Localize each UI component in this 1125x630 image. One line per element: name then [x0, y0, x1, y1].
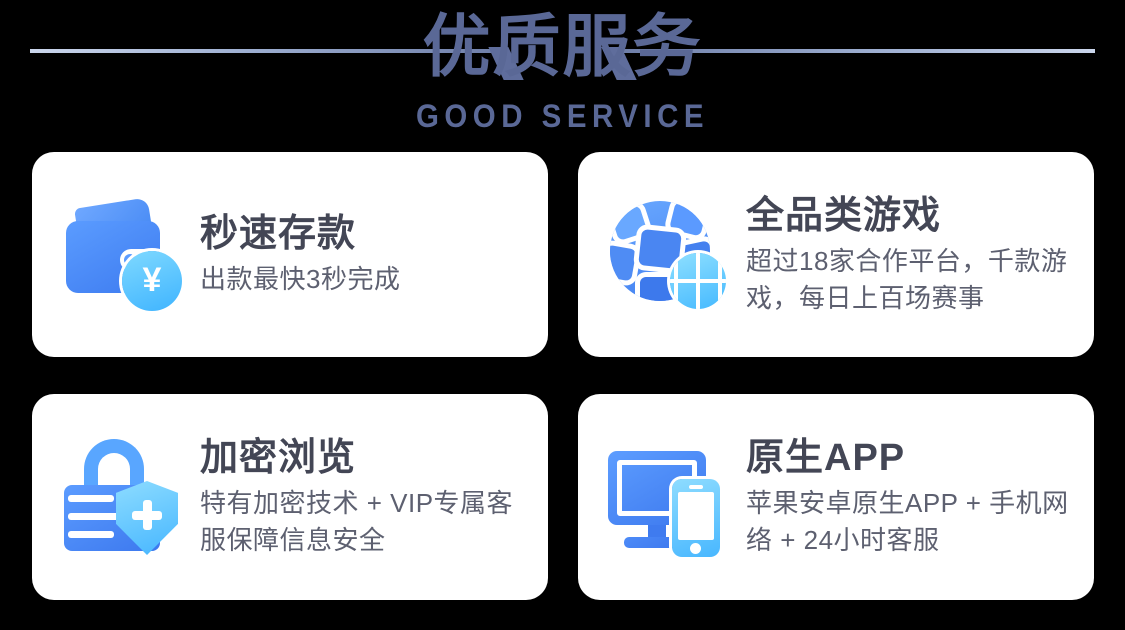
feature-card-deposit-text: 秒速存款 出款最快3秒完成: [200, 211, 534, 298]
soccer-basketball-icon: [604, 191, 732, 319]
soccer-panel-icon: [610, 244, 637, 281]
feature-card-games-title: 全品类游戏: [746, 193, 1080, 239]
feature-card-native-app[interactable]: 原生APP 苹果安卓原生APP + 手机网络 + 24小时客服: [578, 394, 1094, 600]
feature-card-games[interactable]: 全品类游戏 超过18家合作平台，千款游戏，每日上百场赛事: [578, 152, 1094, 357]
feature-card-deposit[interactable]: ¥ 秒速存款 出款最快3秒完成: [32, 152, 548, 357]
monitor-phone-icon: [604, 433, 732, 561]
feature-card-native-app-desc: 苹果安卓原生APP + 手机网络 + 24小时客服: [746, 485, 1080, 559]
basketball-icon: [670, 253, 726, 309]
yen-symbol: ¥: [143, 263, 162, 297]
page-title: 优质服务: [0, 8, 1125, 86]
feature-card-encryption-title: 加密浏览: [200, 435, 534, 481]
cross-icon: [132, 500, 162, 530]
phone-speaker-icon: [689, 485, 703, 489]
feature-card-encryption-desc: 特有加密技术 + VIP专属客服保障信息安全: [200, 485, 534, 559]
lock-slot-icon: [68, 513, 124, 520]
feature-card-native-app-text: 原生APP 苹果安卓原生APP + 手机网络 + 24小时客服: [746, 435, 1080, 559]
basketball-line-icon: [674, 253, 678, 309]
banner-header: 优质服务 GOOD SERVICE: [0, 0, 1125, 145]
feature-card-encryption[interactable]: 加密浏览 特有加密技术 + VIP专属客服保障信息安全: [32, 394, 548, 600]
feature-card-native-app-title: 原生APP: [746, 435, 1080, 481]
page-subtitle: GOOD SERVICE: [45, 98, 1080, 134]
phone-home-button-icon: [690, 543, 701, 554]
smartphone-icon: [672, 479, 720, 557]
basketball-line-icon: [718, 253, 722, 309]
feature-card-games-text: 全品类游戏 超过18家合作平台，千款游戏，每日上百场赛事: [746, 193, 1080, 317]
feature-card-deposit-title: 秒速存款: [200, 211, 534, 257]
service-feature-banner: 优质服务 GOOD SERVICE ¥ 秒速存款 出款最快3秒完成: [0, 0, 1125, 630]
soccer-panel-icon: [669, 201, 707, 236]
feature-card-encryption-text: 加密浏览 特有加密技术 + VIP专属客服保障信息安全: [200, 435, 534, 559]
feature-card-grid: ¥ 秒速存款 出款最快3秒完成: [32, 152, 1094, 600]
soccer-panel-icon: [640, 277, 674, 301]
feature-card-deposit-desc: 出款最快3秒完成: [200, 261, 534, 298]
lock-slot-icon: [68, 531, 114, 538]
lock-shield-icon: [58, 433, 186, 561]
wallet-yen-icon: ¥: [58, 191, 186, 319]
phone-screen-icon: [678, 492, 714, 540]
lock-slot-icon: [68, 495, 114, 502]
yen-coin-icon: ¥: [122, 251, 182, 311]
feature-card-games-desc: 超过18家合作平台，千款游戏，每日上百场赛事: [746, 243, 1080, 317]
